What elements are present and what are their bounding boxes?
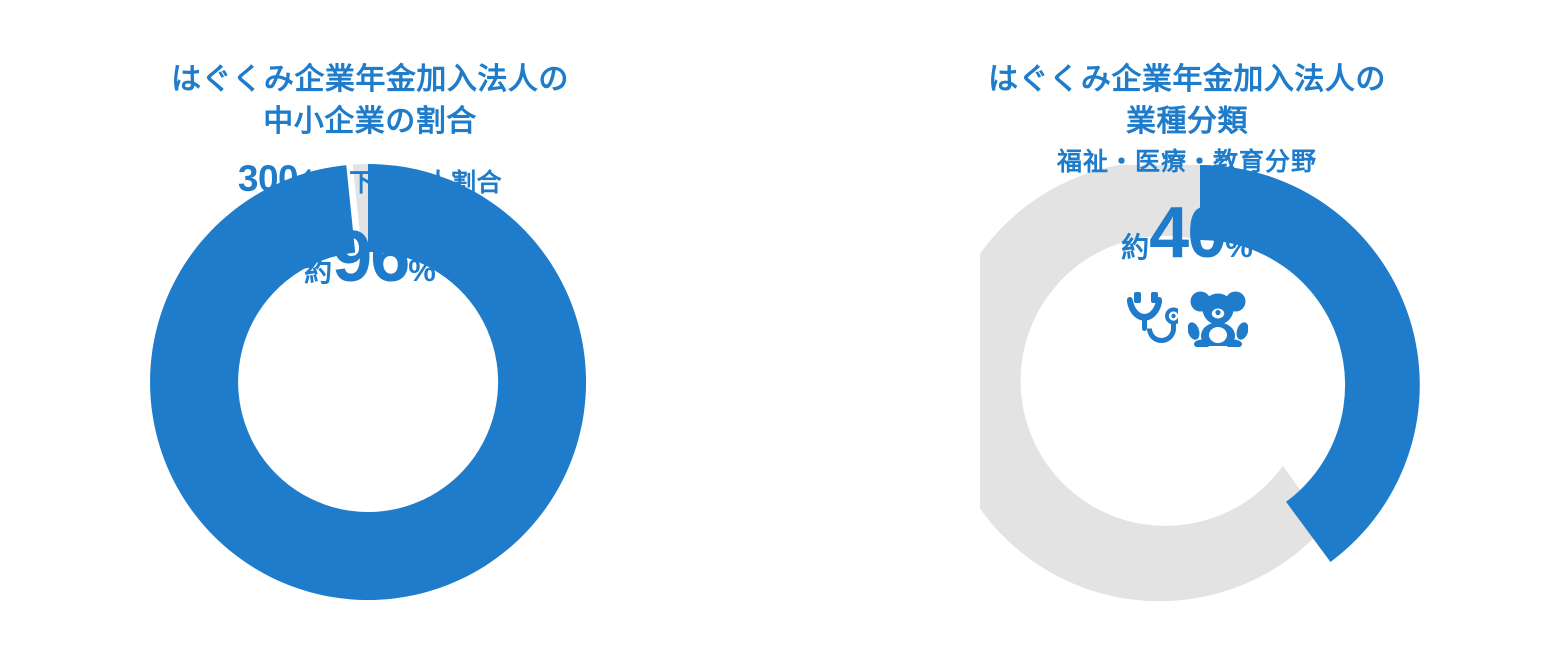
donut-segment-sme xyxy=(150,164,586,600)
infographic-board: はぐくみ企業年金加入法人の 中小企業の割合 300名以下の法人割合 約96% は… xyxy=(0,0,1554,658)
panel-industry-breakdown: はぐくみ企業年金加入法人の 業種分類 福祉・医療・教育分野 約40% xyxy=(820,0,1554,658)
panel-sme-ratio: はぐくみ企業年金加入法人の 中小企業の割合 300名以下の法人割合 約96% xyxy=(0,0,740,658)
donut-svg-sme-ratio xyxy=(150,164,586,600)
donut-segment-other xyxy=(353,164,368,252)
donut-segment-welfare-medical-education xyxy=(1200,165,1420,562)
donut-chart-sme-ratio xyxy=(150,164,586,600)
donut-chart-industry-breakdown xyxy=(980,165,1420,605)
donut-svg-industry-breakdown xyxy=(980,165,1420,605)
page-title-industry-breakdown: はぐくみ企業年金加入法人の 業種分類 xyxy=(820,59,1554,144)
page-title-sme-ratio: はぐくみ企業年金加入法人の 中小企業の割合 xyxy=(0,59,740,144)
